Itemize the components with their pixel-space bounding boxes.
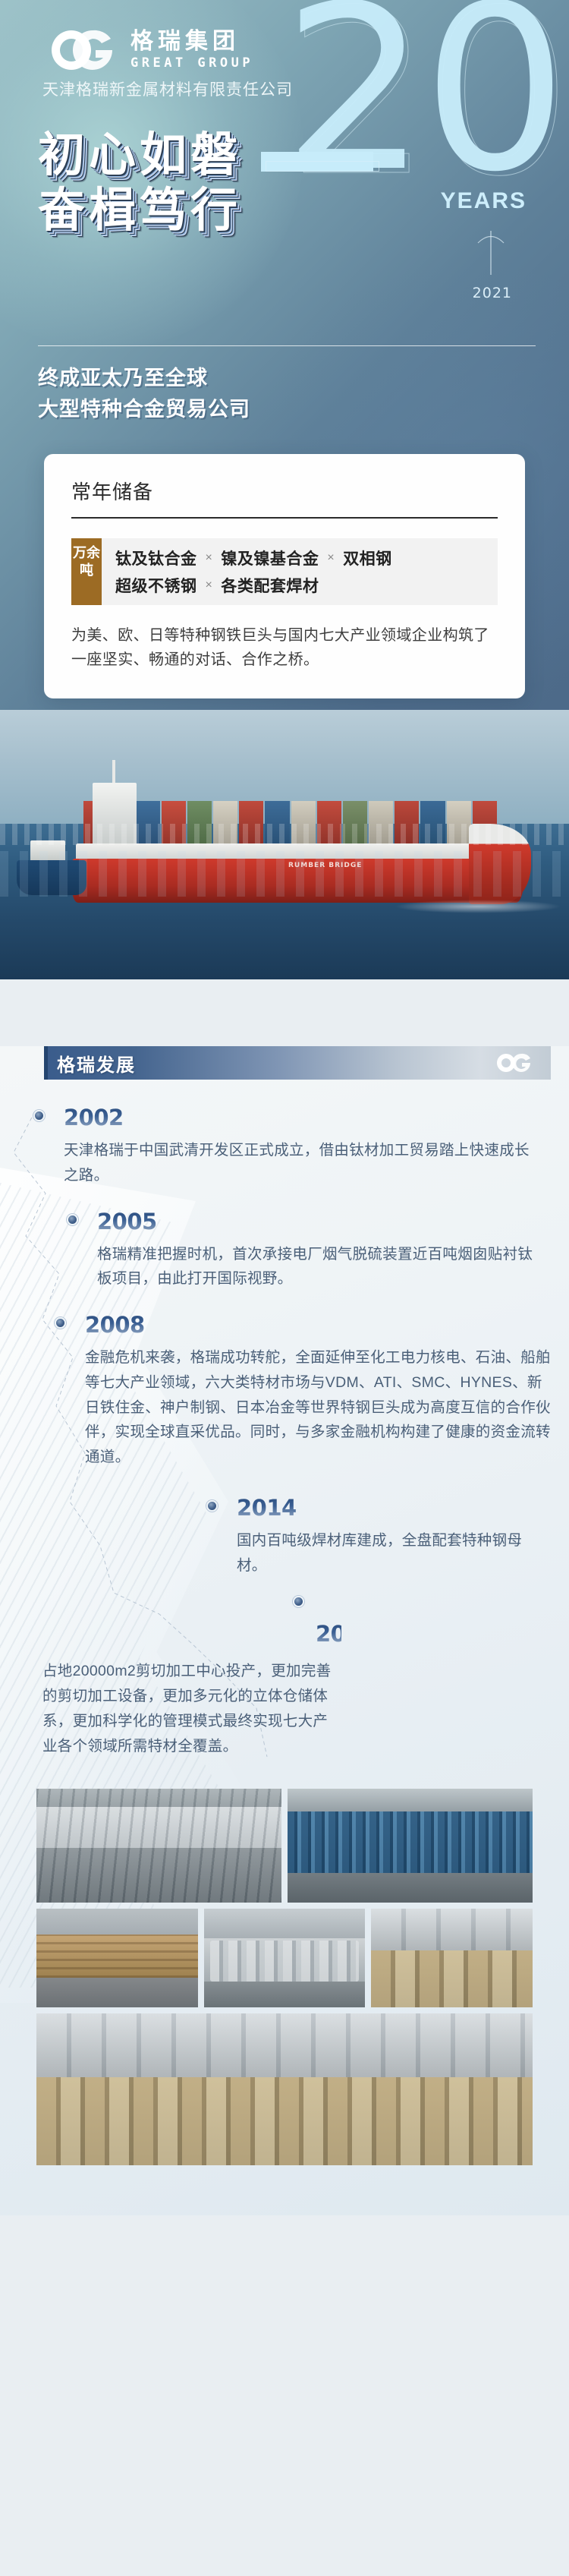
photo-crated-goods-warehouse [36,2013,533,2165]
headline-line-2: 奋楫笃行 [38,183,241,238]
timeline-year: 2002 [64,1107,539,1129]
timeline-item-2002: 2002 天津格瑞于中国武清开发区正式成立，借由钛材加工贸易踏上快速成长之路。 [64,1107,539,1188]
photo-row-3 [36,2013,533,2165]
timeline-description: 格瑞精准把握时机，首次承接电厂烟气脱硫装置近百吨烟囱贴衬钛板项目，由此打开国际视… [97,1242,546,1292]
material-item: 镍及镍基合金 [221,547,319,569]
facility-photo-gallery [0,1758,569,2208]
timeline-year: 2005 [97,1211,546,1233]
timeline-description: 国内百吨级焊材库建成，全盘配套特种钢母材。 [237,1528,551,1578]
material-item: 超级不锈钢 [115,574,197,597]
ship-mast [112,760,115,784]
timeline-dot-icon [67,1214,78,1225]
material-separator: × [327,551,335,565]
material-item: 各类配套焊材 [221,574,319,597]
header-accent-bar [44,1046,48,1080]
reserve-quantity-badge: 万余吨 [71,538,102,605]
material-item: 钛及钛合金 [115,547,197,569]
sea-shimmer [0,824,569,845]
timeline-description: 占地20000m2剪切加工中心投产，更加完善的剪切加工设备，更加多元化的立体仓储… [42,1659,341,1758]
timeline-dot-icon [33,1110,45,1121]
timeline-dot-icon [293,1596,304,1607]
material-separator: × [206,579,213,592]
timeline-year: 2014 [237,1497,551,1519]
subtitle-line-2: 大型特种合金贸易公司 [38,394,250,425]
development-header: 格瑞发展 [44,1046,551,1080]
reserve-spec-box: 万余吨 钛及钛合金 × 镍及镍基合金 × 双相钢 超级不锈钢 × 各类配套焊材 [71,538,498,605]
up-arrow-icon [475,228,507,276]
hero-banner: 20 20 YEARS 2021 格瑞集团 GREAT GROUP [0,0,569,979]
cargo-ship-photo: RUMBER BRIDGE [0,710,569,979]
cg-logo-icon-small [495,1052,537,1074]
timeline-year: 2008 [85,1314,555,1336]
brand-wordmark: 格瑞集团 GREAT GROUP [130,30,253,71]
photo-blue-coil-rolls [288,1789,533,1903]
photo-wood-pallet-stock [36,1909,198,2007]
brand-name-cn: 格瑞集团 [130,30,253,54]
brand-logo: 格瑞集团 GREAT GROUP [46,27,253,73]
development-title: 格瑞发展 [57,1050,136,1077]
photo-metal-coil-storage [204,1909,366,2007]
material-separator: × [206,551,213,565]
anniversary-underline-outline [266,161,379,172]
anniversary-start-year: 2021 [473,285,512,301]
timeline-item-2005: 2005 格瑞精准把握时机，首次承接电厂烟气脱硫装置近百吨烟囱贴衬钛板项目，由此… [97,1211,546,1292]
hero-subtitle: 终成亚太乃至全球 大型特种合金贸易公司 [38,363,250,424]
material-item: 双相钢 [343,547,392,569]
timeline-item-2014: 2014 国内百吨级焊材库建成，全盘配套特种钢母材。 [237,1497,551,1578]
reserve-card: 常年储备 万余吨 钛及钛合金 × 镍及镍基合金 × 双相钢 超级不锈钢 × 各类 [44,454,525,698]
anniversary-number: 20 [282,0,563,203]
photo-warehouse-aisle [371,1909,533,2007]
hero-divider [38,345,536,346]
timeline-dot-icon [206,1500,218,1512]
photo-row-2 [36,1909,533,2007]
material-row-2: 超级不锈钢 × 各类配套焊材 [115,574,498,597]
brand-name-en: GREAT GROUP [130,55,253,71]
sea-shimmer-2 [0,851,569,897]
headline-line-1: 初心如磐 [38,128,241,183]
photo-row-1 [36,1789,533,1903]
timeline-item-2008: 2008 金融危机来袭，格瑞成功转舵，全面延伸至化工电力核电、石油、船舶等七大产… [85,1314,555,1470]
photo-steel-plate-stacks [36,1789,281,1903]
reserve-card-title: 常年储备 [71,477,498,505]
timeline-description: 天津格瑞于中国武清开发区正式成立，借由钛材加工贸易踏上快速成长之路。 [64,1138,539,1188]
anniversary-label: YEARS [441,188,527,214]
subtitle-line-1: 终成亚太乃至全球 [38,363,250,394]
company-full-name: 天津格瑞新金属材料有限责任公司 [42,77,293,100]
reserve-card-rule [71,517,498,519]
timeline-year: 2016 [316,1623,341,1645]
cg-logo-icon [46,27,120,73]
promo-page: 20 20 YEARS 2021 格瑞集团 GREAT GROUP [0,0,569,2215]
timeline-dot-icon [55,1317,66,1329]
development-section: 格瑞发展 2002 天津格瑞于中国武清开发区正式成立，借由钛材加工贸易踏上快速成… [0,1046,569,2215]
ship-wake [395,900,561,913]
hero-headline: 初心如磐 奋楫笃行 [38,128,241,238]
material-row-1: 钛及钛合金 × 镍及镍基合金 × 双相钢 [115,547,498,569]
reserve-material-list: 钛及钛合金 × 镍及镍基合金 × 双相钢 超级不锈钢 × 各类配套焊材 [102,538,498,605]
reserve-card-description: 为美、欧、日等特种钢铁巨头与国内七大产业领域企业构筑了一座坚实、畅通的对话、合作… [71,623,498,673]
company-timeline: 2002 天津格瑞于中国武清开发区正式成立，借由钛材加工贸易踏上快速成长之路。 … [0,1080,569,1758]
timeline-item-2016: 2016 占地20000m2剪切加工中心投产，更加完善的剪切加工设备，更加多元化… [42,1623,341,1758]
timeline-description: 金融危机来袭，格瑞成功转舵，全面延伸至化工电力核电、石油、船舶等七大产业领域，六… [85,1345,555,1470]
